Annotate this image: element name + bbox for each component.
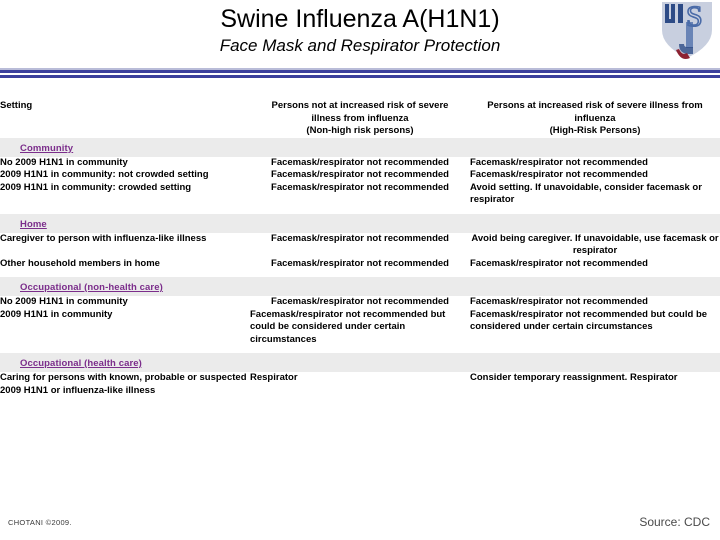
cell-setting: Other household members in home [0,258,250,271]
row-spacer-cell [0,270,720,277]
cell-not-increased-risk: Facemask/respirator not recommended [250,258,470,271]
table-body: Community No 2009 H1N1 in community Face… [0,138,720,398]
column-header-increased-risk-line1: Persons at increased risk of severe illn… [487,100,702,111]
section-header-cell-community: Community [0,138,720,157]
table-row: No 2009 H1N1 in community Facemask/respi… [0,296,720,309]
cell-setting: Caring for persons with known, probable … [0,372,250,397]
section-header-cell-occupational-non-health-care: Occupational (non-health care) [0,277,720,296]
column-header-not-increased-risk: Persons not at increased risk of severe … [250,100,470,138]
cell-not-increased-risk: Facemask/respirator not recommended [250,169,470,182]
footer-copyright: CHOTANI ©2009. [8,518,72,527]
column-header-not-increased-risk-line2: illness from influenza [311,113,408,124]
title-block: Swine Influenza A(H1N1) Face Mask and Re… [0,4,720,57]
row-spacer [0,270,720,277]
row-spacer-cell [0,207,720,214]
cell-increased-risk: Facemask/respirator not recommended [470,157,720,170]
cell-setting: No 2009 H1N1 in community [0,296,250,309]
column-header-not-increased-risk-line1: Persons not at increased risk of severe [272,100,449,111]
cell-increased-risk: Facemask/respirator not recommended [470,258,720,271]
page-subtitle: Face Mask and Respirator Protection [0,35,720,57]
cell-setting: Caregiver to person with influenza-like … [0,233,250,258]
page-title: Swine Influenza A(H1N1) [0,4,720,34]
column-header-not-increased-risk-line3: (Non-high risk persons) [306,125,413,136]
section-link-community[interactable]: Community [0,139,73,157]
row-spacer-cell [0,346,720,353]
column-header-setting: Setting [0,100,250,138]
table-row: Caregiver to person with influenza-like … [0,233,720,258]
divider-rule-lower [0,75,720,78]
table-header-row: Setting Persons not at increased risk of… [0,100,720,138]
cell-setting: No 2009 H1N1 in community [0,157,250,170]
section-header-row-community: Community [0,138,720,157]
cell-increased-risk: Facemask/respirator not recommended [470,169,720,182]
table-row: Other household members in home Facemask… [0,258,720,271]
cell-not-increased-risk: Facemask/respirator not recommended but … [250,309,470,347]
section-header-row-occupational-health-care: Occupational (health care) [0,353,720,372]
cell-not-increased-risk: Facemask/respirator not recommended [250,157,470,170]
header-divider [0,68,720,78]
row-spacer [0,346,720,353]
jhsph-shield-logo: S [656,0,718,66]
section-link-home[interactable]: Home [0,215,47,233]
section-link-occupational-health-care[interactable]: Occupational (health care) [0,354,142,372]
section-header-cell-occupational-health-care: Occupational (health care) [0,353,720,372]
column-header-increased-risk-line2: influenza [574,113,615,124]
cell-increased-risk: Consider temporary reassignment. Respira… [470,372,720,397]
cell-increased-risk: Facemask/respirator not recommended [470,296,720,309]
section-header-row-occupational-non-health-care: Occupational (non-health care) [0,277,720,296]
table-row: No 2009 H1N1 in community Facemask/respi… [0,157,720,170]
row-spacer [0,207,720,214]
slide-header: Swine Influenza A(H1N1) Face Mask and Re… [0,0,720,68]
cell-not-increased-risk: Facemask/respirator not recommended [250,182,470,207]
cell-increased-risk: Facemask/respirator not recommended but … [470,309,720,347]
column-header-increased-risk-line3: (High-Risk Persons) [550,125,641,136]
footer-source: Source: CDC [639,515,710,529]
cell-setting: 2009 H1N1 in community: crowded setting [0,182,250,207]
cell-increased-risk: Avoid setting. If unavoidable, consider … [470,182,720,207]
cell-setting: 2009 H1N1 in community: not crowded sett… [0,169,250,182]
column-header-increased-risk: Persons at increased risk of severe illn… [470,100,720,138]
recommendation-table-wrapper: Setting Persons not at increased risk of… [0,100,720,397]
section-header-cell-home: Home [0,214,720,233]
cell-not-increased-risk: Facemask/respirator not recommended [250,296,470,309]
table-row: 2009 H1N1 in community: not crowded sett… [0,169,720,182]
table-row: Caring for persons with known, probable … [0,372,720,397]
recommendation-table: Setting Persons not at increased risk of… [0,100,720,397]
cell-increased-risk: Avoid being caregiver. If unavoidable, u… [470,233,720,258]
cell-setting: 2009 H1N1 in community [0,309,250,347]
table-row: 2009 H1N1 in community Facemask/respirat… [0,309,720,347]
table-row: 2009 H1N1 in community: crowded setting … [0,182,720,207]
section-header-row-home: Home [0,214,720,233]
cell-not-increased-risk: Respirator [250,372,470,397]
table-head: Setting Persons not at increased risk of… [0,100,720,138]
cell-not-increased-risk: Facemask/respirator not recommended [250,233,470,258]
section-link-occupational-non-health-care[interactable]: Occupational (non-health care) [0,278,163,296]
